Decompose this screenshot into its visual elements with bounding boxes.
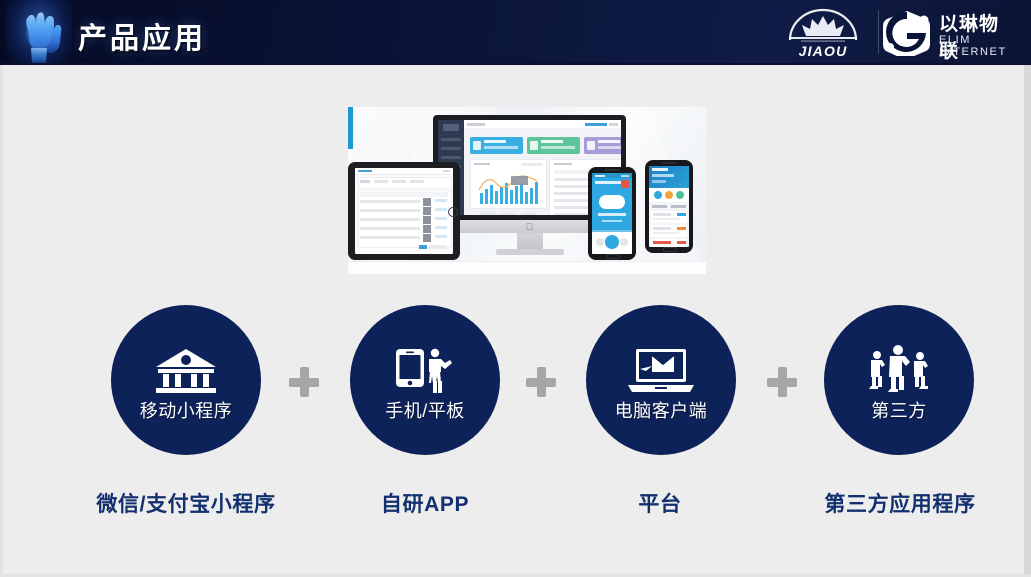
- multi-device-mockup: : [348, 107, 706, 274]
- plus-connector-2: [526, 367, 556, 397]
- three-people-icon: [863, 337, 935, 395]
- page-title: 产品应用: [78, 15, 206, 57]
- raised-fist-icon: [6, 0, 72, 65]
- circle-item-desktop-client[interactable]: 电脑客户端: [586, 305, 736, 455]
- jiaou-logo: JIAOU: [781, 6, 865, 58]
- circle-item-phone-tablet[interactable]: 手机/平板: [350, 305, 500, 455]
- qr-code-icon: [423, 216, 431, 224]
- caption-platform: 平台: [540, 488, 780, 518]
- elim-name-en: ELIM INTERNET: [939, 34, 1015, 58]
- sunrise-arch-icon: [781, 6, 865, 46]
- plus-connector-1: [289, 367, 319, 397]
- plus-connector-3: [767, 367, 797, 397]
- accent-bar: [348, 107, 353, 149]
- slide: 产品应用 JIAOU 以琳物联 ELIM INTERNET: [0, 0, 1031, 577]
- caption-third-party-app: 第三方应用程序: [780, 488, 1020, 518]
- elim-logo: 以琳物联 ELIM INTERNET: [883, 8, 1015, 56]
- tablet-table-screen: [355, 168, 453, 254]
- circle-label: 第三方: [871, 397, 927, 423]
- circle-label: 手机/平板: [385, 397, 465, 423]
- bar-line-chart: [471, 160, 546, 208]
- apple-logo-icon: : [526, 223, 534, 232]
- circle-item-mini-program[interactable]: 移动小程序: [111, 305, 261, 455]
- circle-label: 移动小程序: [140, 397, 233, 423]
- mobile-phone-person-icon: [393, 337, 457, 395]
- qr-code-icon: [423, 207, 431, 215]
- captions-row: 微信/支付宝小程序 自研APP 平台 第三方应用程序: [0, 488, 1031, 524]
- logo-divider: [878, 10, 879, 54]
- caption-self-developed-app: 自研APP: [305, 488, 545, 518]
- circle-item-third-party[interactable]: 第三方: [824, 305, 974, 455]
- caption-mini-program: 微信/支付宝小程序: [66, 488, 306, 518]
- circle-label: 电脑客户端: [615, 397, 708, 423]
- application-circles-row: 移动小程序 手机/平板: [0, 305, 1031, 460]
- tablet-device: [348, 162, 460, 260]
- phone-device-2: [645, 160, 693, 253]
- qr-code-icon: [423, 234, 431, 242]
- bank-building-icon: [153, 337, 219, 395]
- jiaou-wordmark: JIAOU: [781, 43, 865, 59]
- phone-scan-screen: [592, 173, 632, 254]
- page-header: 产品应用 JIAOU 以琳物联 ELIM INTERNET: [0, 0, 1031, 65]
- qr-code-icon: [423, 198, 431, 206]
- header-underline: [0, 63, 1031, 65]
- qr-code-icon: [423, 225, 431, 233]
- g-hexagon-icon: [883, 10, 931, 56]
- phone-device-1: [588, 167, 636, 260]
- world-map-graphic: [474, 210, 544, 215]
- laptop-envelope-icon: [626, 337, 696, 395]
- phone-list-screen: [649, 166, 689, 247]
